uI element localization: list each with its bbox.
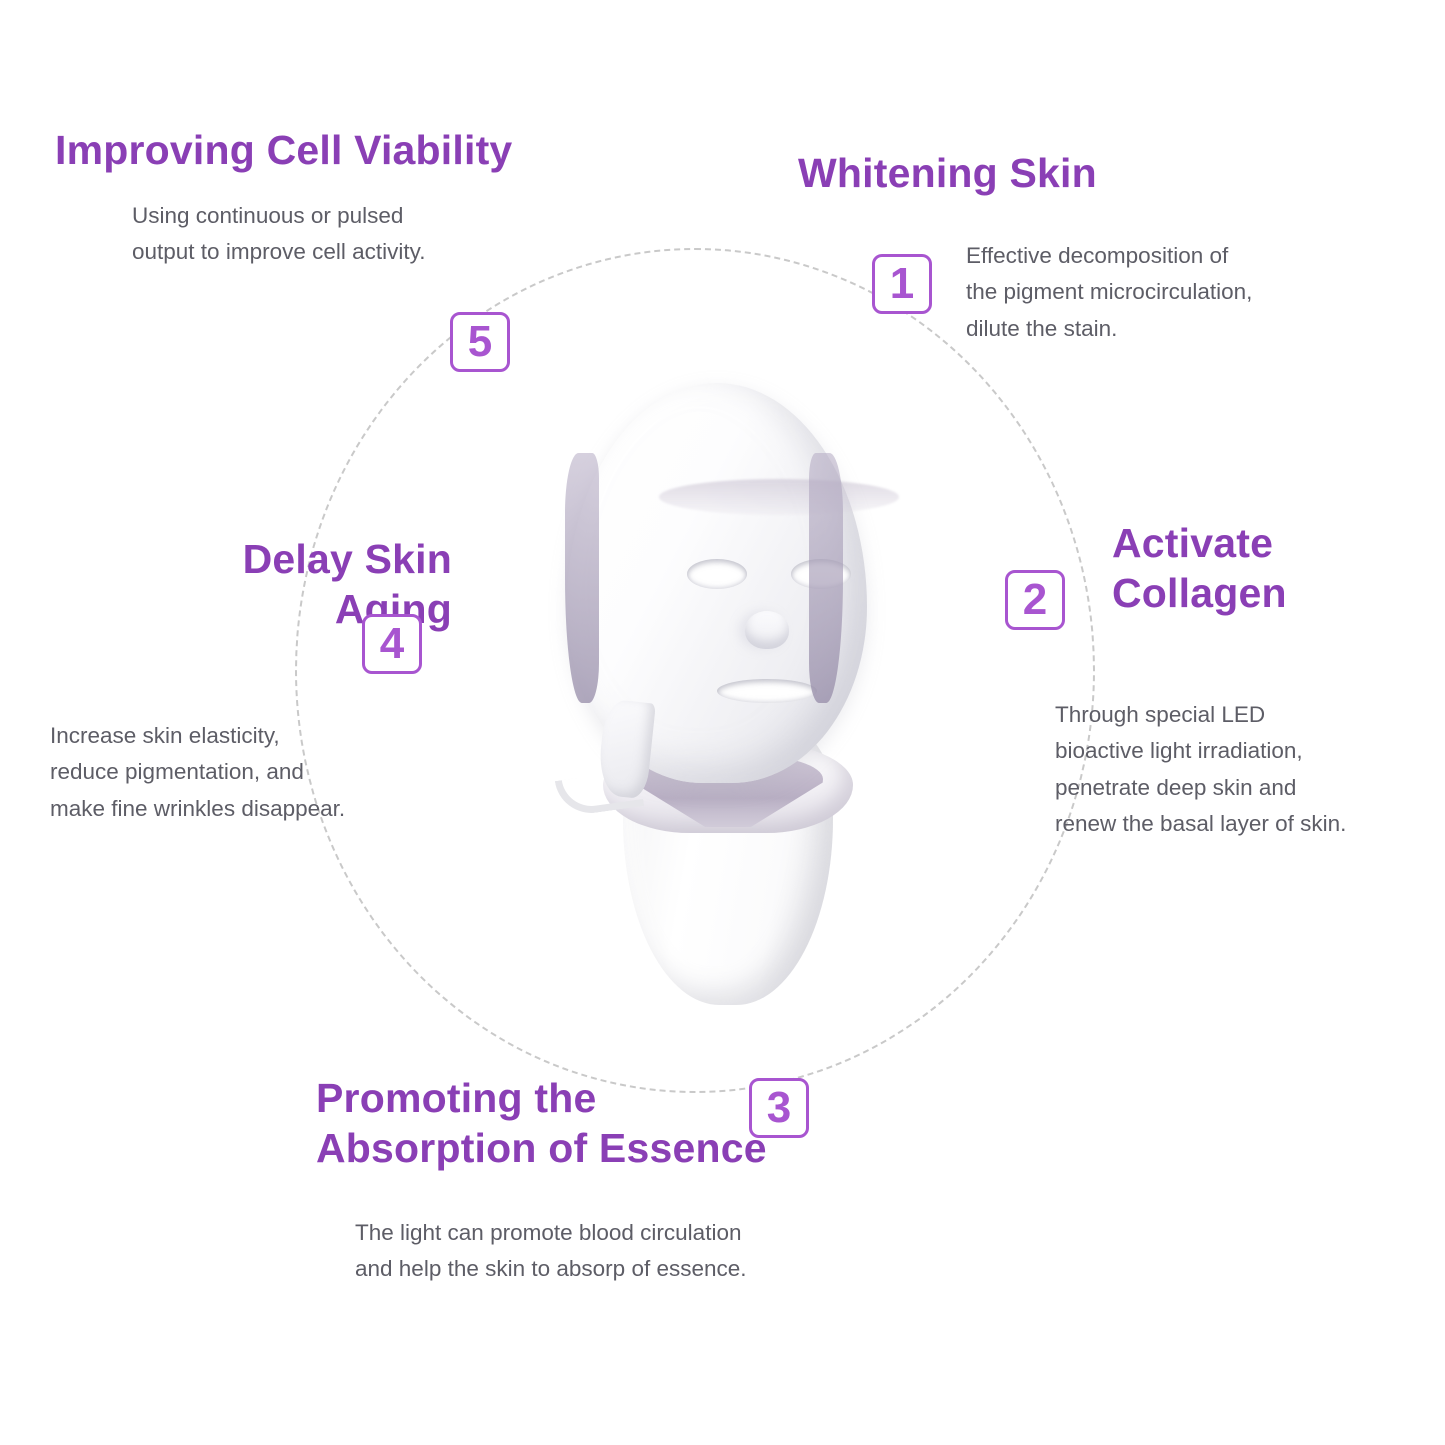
feature-badge-2: 2 [1005,570,1065,630]
feature-badge-3: 3 [749,1078,809,1138]
mask-side-led-right [809,453,843,703]
feature-badge-5: 5 [450,312,510,372]
feature-title-improving-cell-viability: Improving Cell Viability [55,125,512,175]
feature-badge-1: 1 [872,254,932,314]
feature-badge-4: 4 [362,614,422,674]
mask-eye-opening-left [687,559,747,589]
mask-side-led-left [565,453,599,703]
mask-nose [745,611,789,649]
feature-body-whitening-skin: Effective decomposition of the pigment m… [966,238,1252,347]
feature-body-promoting-absorption: The light can promote blood circulation … [355,1215,747,1288]
mask-mouth-opening [717,679,817,703]
feature-title-whitening-skin: Whitening Skin [798,148,1097,198]
feature-body-improving-cell-viability: Using continuous or pulsed output to imp… [132,198,425,271]
feature-body-activate-collagen: Through special LED bioactive light irra… [1055,697,1346,843]
feature-body-delay-skin-aging: Increase skin elasticity, reduce pigment… [50,718,345,827]
mask-brow-band [659,479,899,515]
infographic-canvas: Improving Cell Viability Using continuou… [0,0,1445,1445]
led-mask-product-image [505,375,925,1015]
feature-title-promoting-absorption: Promoting the Absorption of Essence [316,1073,767,1173]
feature-title-activate-collagen: Activate Collagen [1112,518,1287,618]
